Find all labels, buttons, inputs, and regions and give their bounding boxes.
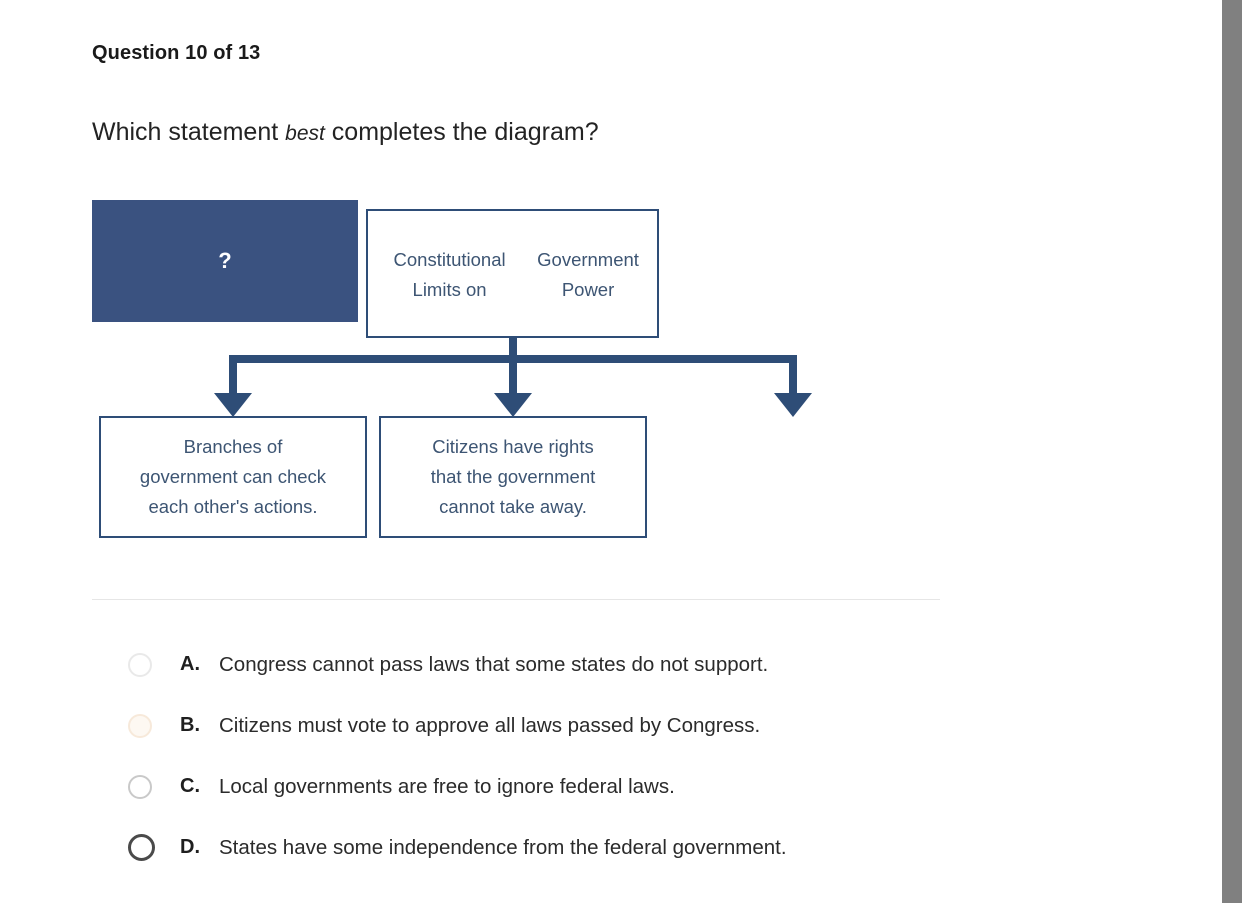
radio-button-a[interactable] — [128, 653, 152, 677]
vertical-scrollbar-track[interactable] — [1222, 0, 1242, 903]
diagram-unknown-node: ? — [92, 200, 358, 322]
diagram-child-node-2: Citizens have rights that the government… — [379, 416, 647, 538]
diagram-child1-line2: government can check — [140, 462, 326, 492]
option-letter-b: B. — [180, 714, 200, 737]
option-text-c: Local governments are free to ignore fed… — [219, 775, 675, 799]
connector-drop-2 — [509, 355, 517, 394]
option-row-a[interactable]: A. Congress cannot pass laws that some s… — [92, 634, 992, 695]
option-text-a: Congress cannot pass laws that some stat… — [219, 653, 768, 677]
question-page: Question 10 of 13 Which statement best c… — [0, 0, 1222, 903]
diagram-child1-line1: Branches of — [140, 432, 326, 462]
option-row-b[interactable]: B. Citizens must vote to approve all law… — [92, 695, 992, 756]
radio-button-b[interactable] — [128, 714, 152, 738]
option-letter-c: C. — [180, 775, 200, 798]
diagram-root-line1: Constitutional Limits on — [374, 245, 525, 305]
diagram-child1-line3: each other's actions. — [140, 492, 326, 522]
concept-diagram: Constitutional Limits on Government Powe… — [92, 200, 952, 550]
radio-button-c[interactable] — [128, 775, 152, 799]
diagram-child2-line3: cannot take away. — [431, 492, 596, 522]
connector-drop-3 — [789, 355, 797, 394]
option-letter-d: D. — [180, 836, 200, 859]
radio-button-d[interactable] — [128, 834, 155, 861]
option-text-d: States have some independence from the f… — [219, 836, 787, 860]
prompt-emphasis: best — [285, 122, 325, 145]
diagram-child-node-1: Branches of government can check each ot… — [99, 416, 367, 538]
diagram-root-line2: Government Power — [525, 245, 651, 305]
vertical-scrollbar-thumb[interactable] — [1222, 0, 1242, 903]
arrowhead-icon-2 — [494, 393, 532, 417]
option-row-c[interactable]: C. Local governments are free to ignore … — [92, 756, 992, 817]
option-text-b: Citizens must vote to approve all laws p… — [219, 714, 760, 738]
arrowhead-icon-1 — [214, 393, 252, 417]
diagram-child2-line1: Citizens have rights — [431, 432, 596, 462]
diagram-root-node: Constitutional Limits on Government Powe… — [366, 209, 659, 338]
diagram-child2-line2: that the government — [431, 462, 596, 492]
question-mark-label: ? — [218, 248, 231, 274]
connector-drop-1 — [229, 355, 237, 394]
question-counter: Question 10 of 13 — [92, 42, 260, 65]
arrowhead-icon-3 — [774, 393, 812, 417]
options-divider — [92, 599, 940, 600]
answer-options-list: A. Congress cannot pass laws that some s… — [92, 634, 992, 878]
prompt-text-after: completes the diagram? — [325, 118, 599, 146]
option-letter-a: A. — [180, 653, 200, 676]
question-prompt: Which statement best completes the diagr… — [92, 118, 599, 147]
option-row-d[interactable]: D. States have some independence from th… — [92, 817, 992, 878]
prompt-text-before: Which statement — [92, 118, 285, 146]
